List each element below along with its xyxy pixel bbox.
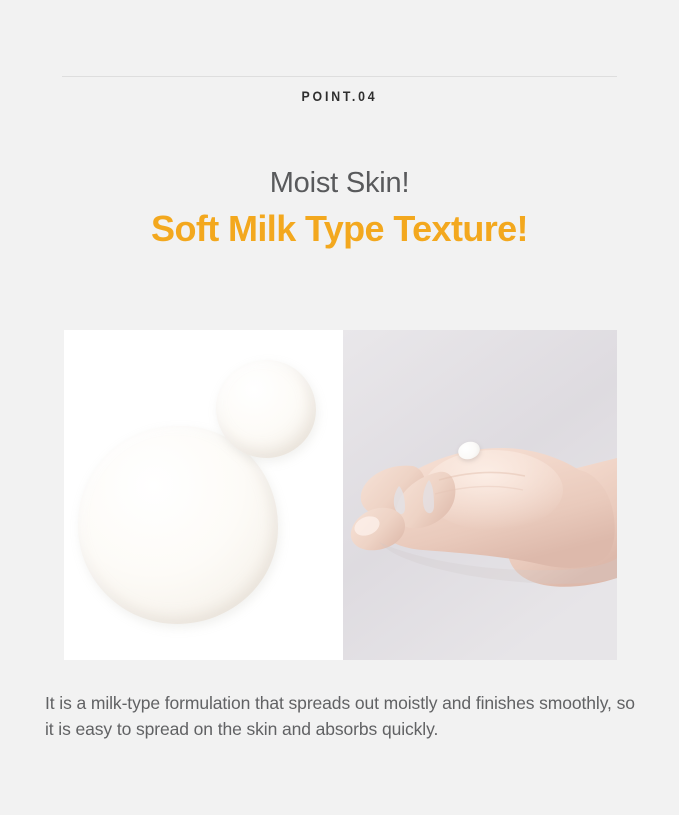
hand-with-cream-photo bbox=[343, 330, 617, 660]
large-cream-droplet bbox=[78, 426, 278, 624]
hand-illustration bbox=[343, 330, 617, 660]
product-image-block bbox=[64, 330, 617, 660]
small-cream-droplet bbox=[216, 360, 316, 458]
horizontal-rule bbox=[62, 76, 617, 77]
point-eyebrow-label: POINT.04 bbox=[41, 88, 639, 104]
product-detail-page: POINT.04 Moist Skin! Soft Milk Type Text… bbox=[0, 0, 679, 815]
description-text: It is a milk-type formulation that sprea… bbox=[45, 690, 635, 742]
page-title: Soft Milk Type Texture! bbox=[0, 208, 679, 250]
subheading: Moist Skin! bbox=[0, 167, 679, 200]
cream-droplets-photo bbox=[64, 330, 339, 660]
